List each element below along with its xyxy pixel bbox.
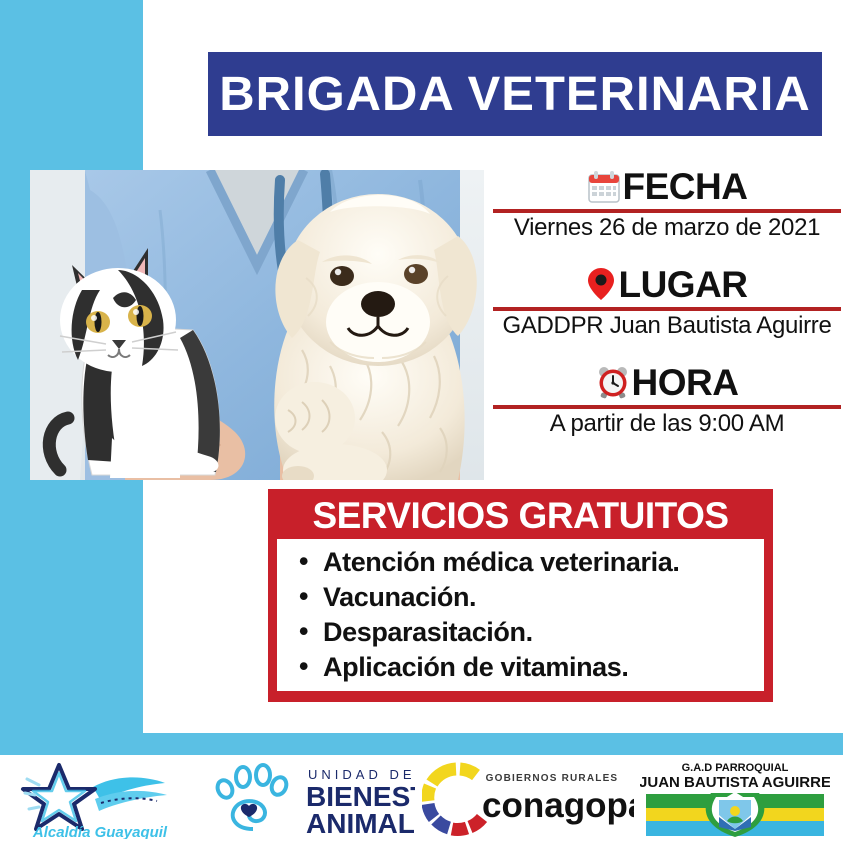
list-item: Aplicación de vitaminas.	[323, 650, 754, 685]
calendar-icon	[587, 170, 621, 204]
services-list: Atención médica veterinaria. Vacunación.…	[277, 545, 764, 685]
info-block-lugar: LUGAR GADDPR Juan Bautista Aguirre	[493, 266, 841, 340]
blue-divider-band	[0, 733, 843, 755]
gad-line1: G.A.D PARROQUIAL	[682, 762, 789, 774]
conagopare-wordmark: conagopare	[482, 786, 634, 825]
services-box: SERVICIOS GRATUITOS Atención médica vete…	[268, 489, 773, 702]
info-value-hora: A partir de las 9:00 AM	[493, 411, 841, 438]
event-info-column: FECHA Viernes 26 de marzo de 2021 LUGAR …	[493, 168, 841, 444]
services-body: Atención médica veterinaria. Vacunación.…	[277, 539, 764, 691]
photo-illustration	[30, 170, 484, 480]
list-item: Atención médica veterinaria.	[323, 545, 754, 580]
alarm-clock-icon	[596, 365, 630, 399]
info-label-hora: HORA	[632, 364, 739, 401]
poster-root: BRIGADA VETERINARIA	[0, 0, 843, 843]
location-pin-icon	[586, 266, 616, 302]
info-block-fecha: FECHA Viernes 26 de marzo de 2021	[493, 168, 841, 242]
conagopare-logo: GOBIERNOS RURALES conagopare	[420, 755, 635, 843]
footer-logo-bar: Alcaldía Guayaquil UNIDAD DE BIENESTAR A…	[0, 755, 843, 843]
list-item: Desparasitación.	[323, 615, 754, 650]
alcaldia-guayaquil-logo: Alcaldía Guayaquil	[0, 755, 200, 843]
info-rule-hora	[493, 405, 841, 409]
conagopare-tagline: GOBIERNOS RURALES	[485, 773, 618, 784]
uba-line1: UNIDAD DE	[308, 767, 415, 782]
info-label-lugar: LUGAR	[618, 266, 747, 303]
uba-line3: ANIMAL	[306, 808, 415, 839]
alcaldia-logo-text: Alcaldía Guayaquil	[32, 824, 168, 839]
title-banner: BRIGADA VETERINARIA	[208, 52, 822, 136]
info-rule-fecha	[493, 209, 841, 213]
info-head-fecha: FECHA	[493, 168, 841, 205]
info-value-fecha: Viernes 26 de marzo de 2021	[493, 215, 841, 242]
gad-parroquial-logo: G.A.D PARROQUIAL JUAN BAUTISTA AGUIRRE	[635, 755, 835, 843]
info-head-lugar: LUGAR	[493, 266, 841, 303]
gad-line2: JUAN BAUTISTA AGUIRRE	[640, 774, 830, 791]
info-rule-lugar	[493, 307, 841, 311]
info-label-fecha: FECHA	[623, 168, 748, 205]
services-title: SERVICIOS GRATUITOS	[271, 492, 770, 539]
veterinarian-photo	[30, 170, 484, 480]
page-title: BRIGADA VETERINARIA	[219, 67, 811, 122]
info-head-hora: HORA	[493, 364, 841, 401]
info-value-lugar: GADDPR Juan Bautista Aguirre	[493, 313, 841, 340]
bienestar-animal-logo: UNIDAD DE BIENESTAR ANIMAL	[200, 755, 420, 843]
list-item: Vacunación.	[323, 580, 754, 615]
info-block-hora: HORA A partir de las 9:00 AM	[493, 364, 841, 438]
